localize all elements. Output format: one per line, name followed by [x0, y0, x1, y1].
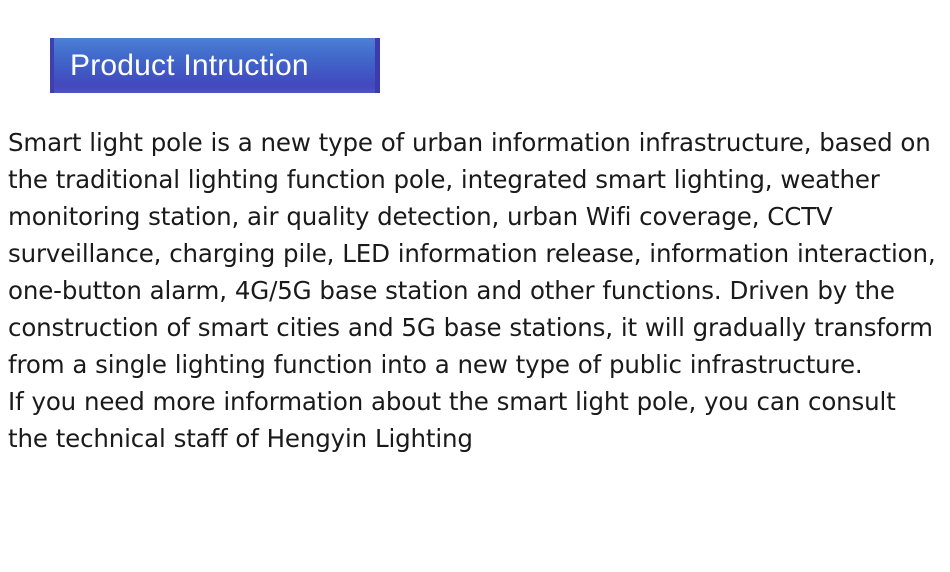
section-title-text: Product Intruction — [54, 51, 309, 81]
contact-paragraph: If you need more information about the s… — [8, 383, 938, 457]
description-paragraph: Smart light pole is a new type of urban … — [8, 124, 938, 383]
product-description-block: Smart light pole is a new type of urban … — [8, 124, 938, 457]
section-title-banner: Product Intruction — [50, 38, 380, 93]
product-introduction-page: Product Intruction Smart light pole is a… — [0, 0, 950, 572]
